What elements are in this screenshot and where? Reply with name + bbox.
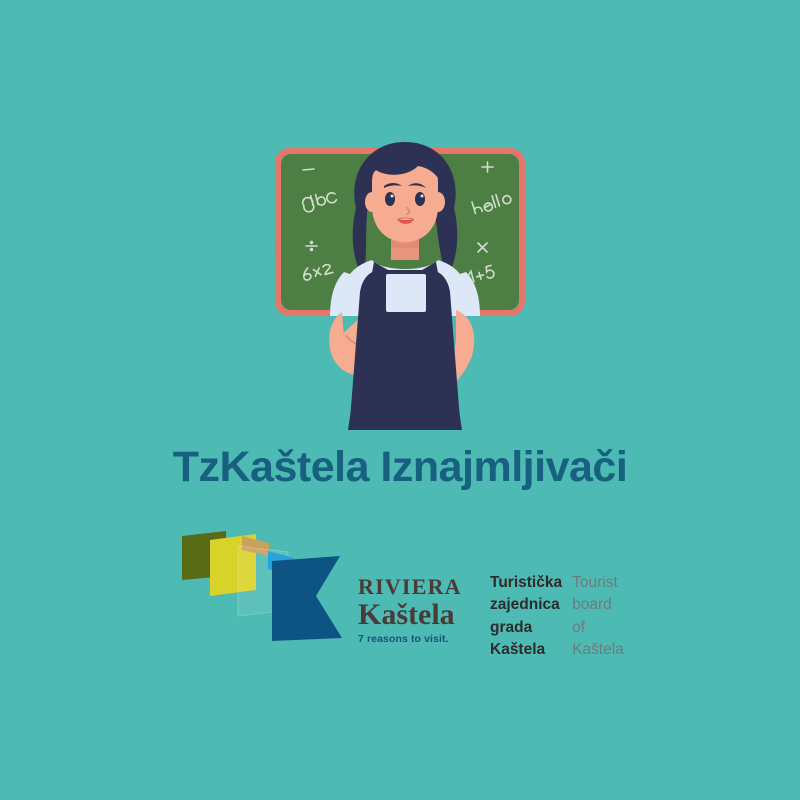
navy-k-flag xyxy=(272,556,342,641)
chalk-dash xyxy=(303,169,314,170)
apron-pocket xyxy=(386,274,426,312)
ear-left xyxy=(365,192,379,212)
eye-left xyxy=(385,192,395,206)
riviera-wordmark: RIVIERA Kaštela 7 reasons to visit. xyxy=(358,576,483,645)
board-hr-line-2: zajednica xyxy=(490,594,562,616)
board-name-croatian: Turistička zajednica grada Kaštela xyxy=(490,572,562,662)
page-title: TzKaštela Iznajmljivači xyxy=(0,443,800,492)
skirt xyxy=(348,350,462,430)
board-en-line-4: Kaštela xyxy=(572,639,624,661)
riviera-line2: Kaštela xyxy=(358,599,483,631)
logo-lockup: RIVIERA Kaštela 7 reasons to visit. Turi… xyxy=(176,528,626,648)
board-en-line-2: board xyxy=(572,594,624,616)
poster-card: TzKaštela Iznajmljivači RIVIERA xyxy=(0,0,800,800)
teacher-illustration xyxy=(260,120,550,430)
board-name-english: Tourist board of Kaštela xyxy=(572,572,624,662)
eye-highlight-left xyxy=(391,195,394,198)
tourist-board-names: Turistička zajednica grada Kaštela Touri… xyxy=(490,572,624,662)
board-hr-line-3: grada xyxy=(490,617,562,639)
eye-highlight-right xyxy=(421,195,424,198)
riviera-line1: RIVIERA xyxy=(358,576,483,598)
riviera-tagline: 7 reasons to visit. xyxy=(358,634,483,645)
riviera-kastela-flags-icon xyxy=(176,528,346,643)
board-hr-line-1: Turistička xyxy=(490,572,562,594)
board-en-line-1: Tourist xyxy=(572,572,624,594)
board-hr-line-4: Kaštela xyxy=(490,639,562,661)
ear-right xyxy=(431,192,445,212)
eye-right xyxy=(415,192,425,206)
board-en-line-3: of xyxy=(572,617,624,639)
